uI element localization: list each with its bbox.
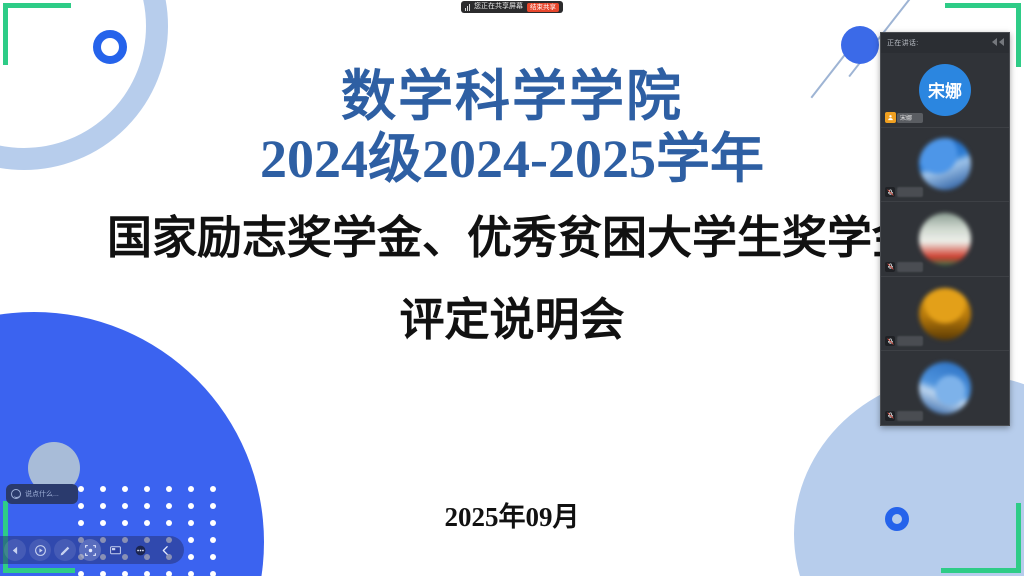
avatar	[919, 138, 971, 190]
video-tile[interactable]	[881, 351, 1009, 425]
emoji-icon[interactable]	[11, 489, 21, 499]
play-button[interactable]	[29, 539, 51, 561]
chat-input[interactable]: 说点什么...	[6, 484, 78, 504]
video-panel-header: 正在讲话:	[881, 33, 1009, 53]
slide-date: 2025年09月	[0, 495, 1024, 534]
participant-name-badge	[897, 262, 923, 272]
screen-icon	[109, 544, 122, 557]
collapse-left-button[interactable]	[154, 539, 176, 561]
slide-title-line2: 2024级2024-2025学年	[0, 126, 1024, 194]
participant-name-badge: 宋娜	[897, 113, 923, 123]
slide-title-block: 数学科学学院 2024级2024-2025学年 国家励志奖学金、优秀贫困大学生奖…	[0, 0, 1024, 348]
mic-muted-icon	[885, 411, 895, 421]
avatar: 宋娜	[919, 64, 971, 116]
annotation-toolbar[interactable]	[0, 536, 184, 564]
back-arrow-icon	[9, 544, 22, 557]
slide-subtitle-line1: 国家励志奖学金、优秀贫困大学生奖学金	[0, 211, 1024, 265]
laser-pointer-icon	[84, 544, 97, 557]
screen-share-bar: 您正在共享屏幕 结束共享	[461, 1, 563, 13]
speaking-icon	[885, 112, 896, 123]
stop-sharing-button[interactable]: 结束共享	[527, 3, 559, 12]
video-tile[interactable]: 宋娜宋娜	[881, 53, 1009, 128]
chevron-right-icon[interactable]	[992, 38, 1004, 46]
screen-button[interactable]	[104, 539, 126, 561]
video-tile[interactable]	[881, 128, 1009, 203]
mic-muted-icon	[885, 336, 895, 346]
mic-muted-icon	[885, 187, 895, 197]
pen-icon	[59, 544, 72, 557]
chat-input-placeholder: 说点什么...	[25, 489, 59, 499]
video-tile[interactable]	[881, 202, 1009, 277]
pen-button[interactable]	[54, 539, 76, 561]
laser-pointer-button[interactable]	[79, 539, 101, 561]
screen-share-status-text: 您正在共享屏幕	[474, 2, 523, 12]
participant-name-badge	[897, 411, 923, 421]
avatar	[919, 288, 971, 340]
mic-muted-icon	[885, 262, 895, 272]
participant-name-badge	[897, 187, 923, 197]
back-arrow-button[interactable]	[4, 539, 26, 561]
video-tile-list: 宋娜宋娜	[881, 53, 1009, 425]
avatar	[919, 213, 971, 265]
video-tile[interactable]	[881, 277, 1009, 352]
slide-subtitle-line2: 评定说明会	[0, 283, 1024, 348]
more-dots-button[interactable]	[129, 539, 151, 561]
more-dots-icon	[134, 544, 147, 557]
participant-name-badge	[897, 336, 923, 346]
collapse-left-icon	[159, 544, 172, 557]
play-icon	[34, 544, 47, 557]
slide-title-line1: 数学科学学院	[0, 68, 1024, 126]
speaking-now-label: 正在讲话:	[887, 38, 918, 48]
participant-video-panel[interactable]: 正在讲话: 宋娜宋娜	[880, 32, 1010, 426]
signal-icon	[465, 4, 470, 11]
shared-slide-canvas: 数学科学学院 2024级2024-2025学年 国家励志奖学金、优秀贫困大学生奖…	[0, 0, 1024, 576]
avatar	[919, 362, 971, 414]
